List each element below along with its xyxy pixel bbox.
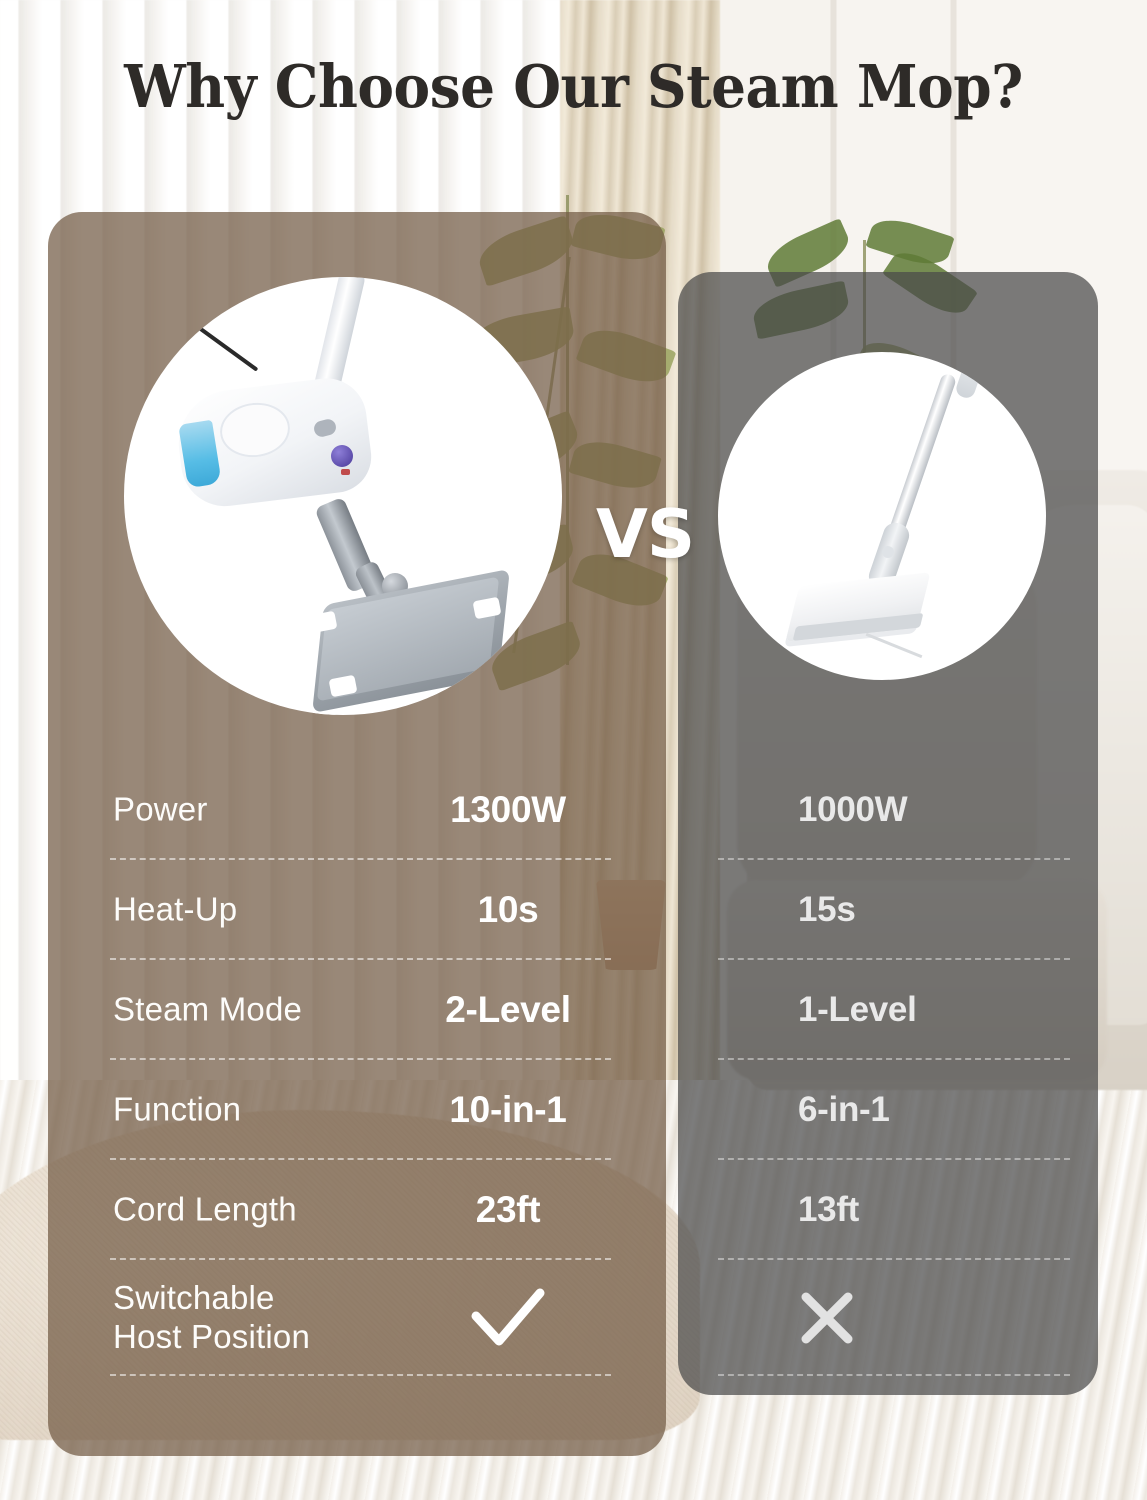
- row-value-theirs: 6-in-1: [798, 1090, 890, 1130]
- row-label: Cord Length: [113, 1191, 297, 1230]
- table-row: 1-Level: [678, 960, 1098, 1060]
- row-value-theirs: 1000W: [798, 790, 907, 830]
- table-row: 15s: [678, 860, 1098, 960]
- table-row: [678, 1260, 1098, 1376]
- row-value-ours: 10-in-1: [378, 1089, 638, 1131]
- row-value-ours: 2-Level: [378, 989, 638, 1031]
- cross-icon: [798, 1289, 856, 1347]
- row-value-theirs: 15s: [798, 890, 856, 930]
- row-label: Function: [113, 1091, 241, 1130]
- row-value-ours: 23ft: [378, 1189, 638, 1231]
- spec-list-theirs: 1000W 15s 1-Level 6-in-1 13ft: [678, 760, 1098, 1376]
- row-label: Power: [113, 791, 208, 830]
- row-value-ours: 10s: [378, 889, 638, 931]
- table-row: Function 10-in-1: [48, 1060, 666, 1160]
- row-divider: [110, 1374, 611, 1376]
- vs-badge: VS: [596, 495, 694, 573]
- table-row: Steam Mode 2-Level: [48, 960, 666, 1060]
- row-value-theirs: 1-Level: [798, 990, 917, 1030]
- table-row: 13ft: [678, 1160, 1098, 1260]
- product-image-ours: [124, 277, 562, 715]
- row-label: Switchable Host Position: [113, 1279, 310, 1357]
- table-row: 1000W: [678, 760, 1098, 860]
- table-row: 6-in-1: [678, 1060, 1098, 1160]
- spec-list-ours: Power 1300W Heat-Up 10s Steam Mode 2-Lev…: [48, 760, 666, 1376]
- product-image-theirs: [718, 352, 1046, 680]
- page-title: Why Choose Our Steam Mop?: [40, 52, 1107, 121]
- table-row: Heat-Up 10s: [48, 860, 666, 960]
- row-label: Steam Mode: [113, 991, 302, 1030]
- table-row: Switchable Host Position: [48, 1260, 666, 1376]
- row-value-theirs: 13ft: [798, 1190, 859, 1230]
- row-divider: [718, 1374, 1070, 1376]
- table-row: Power 1300W: [48, 760, 666, 860]
- table-row: Cord Length 23ft: [48, 1160, 666, 1260]
- row-value-ours: 1300W: [378, 789, 638, 831]
- row-label: Heat-Up: [113, 891, 237, 930]
- check-icon: [378, 1287, 638, 1349]
